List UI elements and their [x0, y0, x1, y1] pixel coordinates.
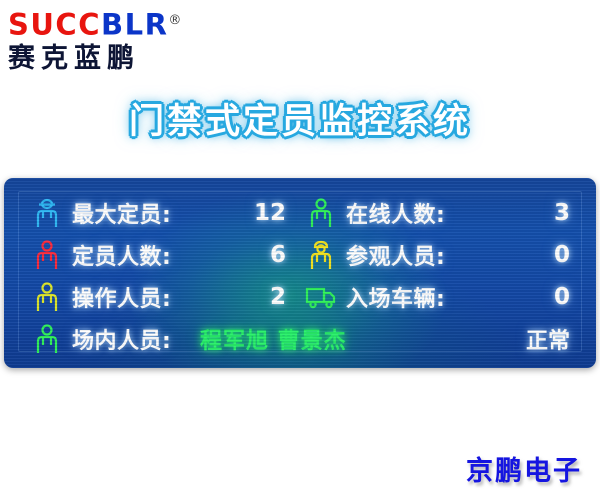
- truck-icon: [304, 276, 338, 318]
- led-label-text: 操作人员:: [72, 281, 171, 313]
- logo-chinese-name: 赛克蓝鹏: [8, 43, 228, 75]
- led-label-text: 场内人员:: [72, 323, 171, 355]
- value-visitor-count: 0: [484, 234, 570, 276]
- led-value-text: 0: [554, 284, 570, 310]
- led-value-text: 6: [270, 242, 286, 268]
- value-online-count: 3: [484, 192, 570, 234]
- label-vehicles-entered: 入场车辆:: [346, 276, 506, 318]
- led-label-text: 在线人数:: [346, 197, 445, 229]
- led-names-text: 程军旭 曹景杰: [200, 323, 347, 355]
- led-content-grid: 最大定员: 12 在线人数: 3: [4, 178, 596, 368]
- person-hard-hat-icon: [30, 192, 64, 234]
- led-display-panel: 最大定员: 12 在线人数: 3: [4, 178, 596, 368]
- person-icon: [304, 192, 338, 234]
- page-title: 门禁式定员监控系统: [0, 93, 600, 144]
- led-row: 场内人员: 程军旭 曹景杰 正常: [4, 318, 596, 360]
- footer-company-name: 京鹏电子: [466, 449, 582, 488]
- logo-wordmark: SUCCBLR®: [8, 6, 228, 40]
- led-value-text: 2: [270, 284, 286, 310]
- company-logo: SUCCBLR® 赛克蓝鹏: [8, 6, 228, 74]
- person-cap-icon: [304, 234, 338, 276]
- status-text: 正常: [526, 323, 570, 355]
- led-label-text: 最大定员:: [72, 197, 171, 229]
- led-label-text: 定员人数:: [72, 239, 171, 271]
- value-operator-count: 2: [200, 276, 286, 318]
- value-vehicles-entered: 0: [484, 276, 570, 318]
- logo-wordmark-red: SUCC: [8, 8, 101, 42]
- label-online-count: 在线人数:: [346, 192, 506, 234]
- person-icon: [30, 276, 64, 318]
- led-label-text: 入场车辆:: [346, 281, 445, 313]
- led-row: 定员人数: 6 参观人员: 0: [4, 234, 596, 276]
- led-value-text: 3: [554, 200, 570, 226]
- registered-trademark-icon: ®: [168, 13, 181, 28]
- person-icon: [30, 318, 64, 360]
- led-value-text: 0: [554, 242, 570, 268]
- label-visitor-count: 参观人员:: [346, 234, 506, 276]
- status-badge: 正常: [474, 318, 570, 360]
- led-label-text: 参观人员:: [346, 239, 445, 271]
- led-row: 操作人员: 2 入场车辆: 0: [4, 276, 596, 318]
- value-onsite-names: 程军旭 曹景杰: [200, 318, 470, 360]
- person-icon: [30, 234, 64, 276]
- value-max-capacity: 12: [200, 192, 286, 234]
- logo-wordmark-blue: BLR: [101, 8, 168, 42]
- led-value-text: 12: [254, 200, 286, 226]
- led-row: 最大定员: 12 在线人数: 3: [4, 192, 596, 234]
- value-allocated-headcount: 6: [200, 234, 286, 276]
